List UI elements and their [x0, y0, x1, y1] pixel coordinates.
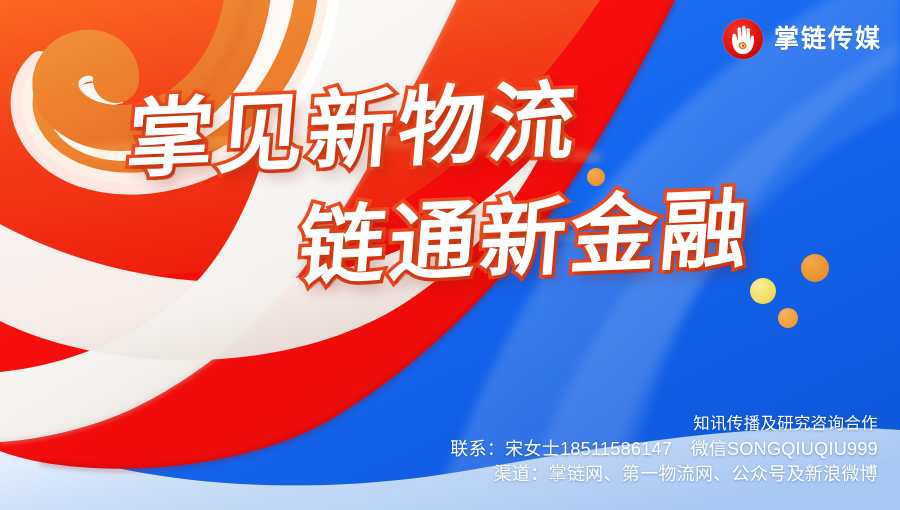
palm-hand-logo-icon [722, 18, 764, 60]
promotional-banner: 掌链传媒 掌见新物流 链通新金融 知讯传播及研究咨询合作 联系：宋女士18511… [0, 0, 900, 510]
brand-lockup[interactable]: 掌链传媒 [722, 18, 882, 60]
contact-line-0: 知讯传播及研究咨询合作 [450, 413, 878, 436]
contact-line-1: 联系：宋女士18511586147 微信SONGQIUQIU999 [450, 437, 878, 463]
dot-orange-small-upper [587, 168, 605, 186]
dot-orange-large [801, 254, 829, 282]
contact-block: 知讯传播及研究咨询合作 联系：宋女士18511586147 微信SONGQIUQ… [450, 413, 878, 488]
dot-orange-small-lower [778, 308, 798, 328]
contact-line-2: 渠道：掌链网、第一物流网、公众号及新浪微博 [450, 462, 878, 488]
dot-yellow [750, 278, 776, 304]
brand-name: 掌链传媒 [774, 27, 882, 52]
